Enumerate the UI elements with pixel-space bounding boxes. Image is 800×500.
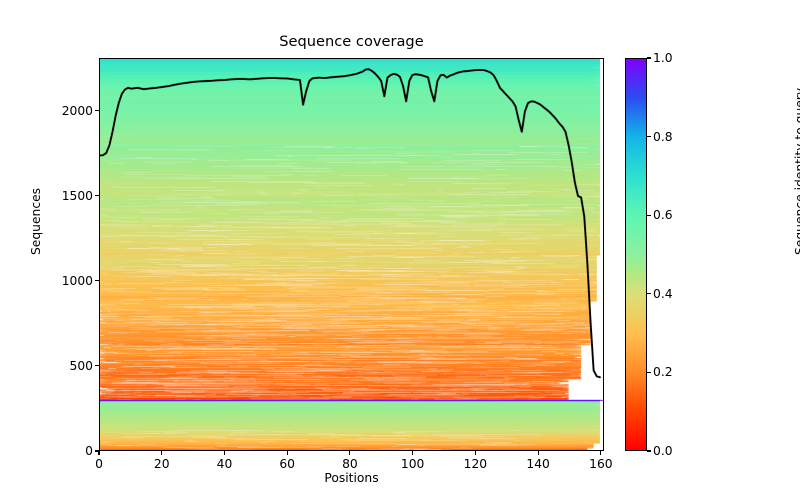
- colorbar-tick-mark: [647, 293, 651, 294]
- colorbar-tick-mark: [647, 372, 651, 373]
- y-tick-label: 1000: [62, 274, 93, 288]
- x-tick-label: 120: [464, 457, 487, 471]
- y-tick-mark: [95, 450, 99, 451]
- y-tick-mark: [95, 110, 99, 111]
- colorbar-tick-mark: [647, 215, 651, 216]
- x-tick-label: 80: [342, 457, 358, 471]
- y-tick-label: 500: [70, 359, 93, 373]
- x-tick-label: 160: [589, 457, 612, 471]
- x-tick-label: 60: [279, 457, 295, 471]
- colorbar-tick-mark: [647, 57, 651, 58]
- colorbar-tick-label: 0.8: [653, 130, 673, 144]
- colorbar-tick-label: 0.6: [653, 208, 673, 222]
- x-tick-mark: [349, 451, 350, 455]
- x-tick-mark: [412, 451, 413, 455]
- x-tick-mark: [161, 451, 162, 455]
- x-tick-mark: [98, 451, 99, 455]
- y-tick-label: 1500: [62, 189, 93, 203]
- colorbar-tick-mark: [647, 450, 651, 451]
- y-tick-mark: [95, 365, 99, 366]
- y-tick-label: 0: [85, 444, 93, 458]
- page-title: Sequence coverage: [99, 33, 604, 50]
- x-tick-label: 100: [401, 457, 424, 471]
- colorbar-gradient: [626, 59, 646, 450]
- colorbar: [625, 58, 647, 451]
- x-tick-label: 40: [217, 457, 233, 471]
- sequence-coverage-heatmap: [100, 59, 603, 450]
- y-tick-mark: [95, 195, 99, 196]
- x-tick-mark: [538, 451, 539, 455]
- colorbar-tick-label: 0.2: [653, 365, 673, 379]
- x-tick-label: 0: [95, 457, 103, 471]
- x-tick-mark: [224, 451, 225, 455]
- x-tick-mark: [287, 451, 288, 455]
- x-tick-label: 20: [154, 457, 170, 471]
- x-tick-mark: [475, 451, 476, 455]
- y-tick-label: 2000: [62, 104, 93, 118]
- y-axis-label: Sequences: [29, 188, 43, 255]
- x-axis-label: Positions: [99, 471, 604, 485]
- colorbar-tick-mark: [647, 136, 651, 137]
- colorbar-tick-label: 0.0: [653, 444, 673, 458]
- colorbar-tick-label: 0.4: [653, 287, 673, 301]
- y-tick-mark: [95, 280, 99, 281]
- plot-area: [99, 58, 604, 451]
- x-tick-label: 140: [526, 457, 549, 471]
- colorbar-label: Sequence identity to query: [793, 88, 800, 255]
- colorbar-tick-label: 1.0: [653, 51, 673, 65]
- x-tick-mark: [600, 451, 601, 455]
- figure-canvas: Sequence coverage Positions Sequences 02…: [0, 0, 800, 500]
